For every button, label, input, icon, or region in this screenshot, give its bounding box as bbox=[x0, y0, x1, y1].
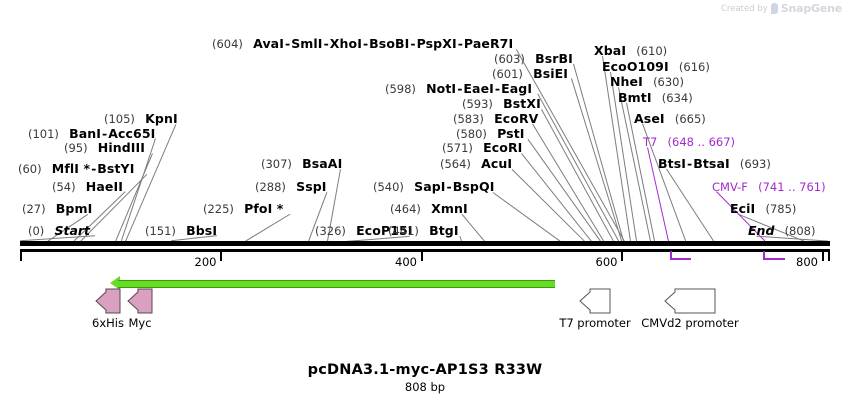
enzyme-separator: - bbox=[409, 36, 416, 51]
ecii-label: EciI (785) bbox=[730, 200, 796, 216]
site-position: (665) bbox=[675, 112, 706, 126]
page-subtitle: 808 bp bbox=[0, 380, 850, 394]
sequence-backbone bbox=[20, 241, 830, 246]
ecoo109i-label: EcoO109I (616) bbox=[602, 58, 710, 74]
ruler-baseline bbox=[20, 249, 830, 252]
watermark-created-by: Created by bbox=[721, 4, 768, 14]
leader-line bbox=[462, 214, 485, 242]
enzyme-separator: - bbox=[323, 36, 330, 51]
enzyme-name: AcuI bbox=[481, 156, 512, 171]
enzyme-name: BanI bbox=[69, 126, 101, 141]
enzyme-name: XhoI bbox=[330, 36, 362, 51]
asei-label: AseI (665) bbox=[634, 110, 706, 126]
bmti-label: BmtI (634) bbox=[618, 89, 693, 105]
bpmi-label: (27) BpmI bbox=[22, 200, 92, 216]
plasmid-map-canvas: Created by SnapGene (0) Start(27) BpmI(5… bbox=[0, 0, 850, 404]
myc-feature-arrow-icon bbox=[127, 288, 153, 314]
enzyme-name: NotI bbox=[426, 81, 456, 96]
site-position: (603) bbox=[494, 52, 525, 66]
noti-eaei-eagi-label: (598) NotI-EaeI-EagI bbox=[385, 80, 532, 96]
enzyme-name: BtgI bbox=[429, 223, 459, 238]
pfoi-label: (225) PfoI * bbox=[203, 200, 283, 216]
t7-primer: T7 (648 .. 667) bbox=[643, 133, 735, 149]
cmvf-primer: CMV-F (741 .. 761) bbox=[712, 178, 826, 194]
ruler-tick bbox=[621, 252, 623, 261]
bsrbi-label: (603) BsrBI bbox=[494, 50, 573, 66]
kpni-label: (105) KpnI bbox=[104, 110, 178, 126]
enzyme-name: BbsI bbox=[186, 223, 217, 238]
site-position: (598) bbox=[385, 82, 416, 96]
6xhis-feature-arrow-icon bbox=[95, 288, 121, 314]
ruler-tick bbox=[822, 252, 824, 261]
enzyme-name: XmnI bbox=[431, 201, 468, 216]
site-position: (441) bbox=[388, 224, 419, 238]
sspi-label: (288) SspI bbox=[255, 178, 327, 194]
enzyme-name: HindIII bbox=[98, 140, 145, 155]
avai-group-label: (604) AvaI-SmlI-XhoI-BsoBI-PspXI-PaeR7I bbox=[212, 35, 513, 51]
site-position: (95) bbox=[64, 141, 88, 155]
enzyme-name: EcoO109I bbox=[602, 59, 669, 74]
btgi-label: (441) BtgI bbox=[388, 222, 459, 238]
site-position: (27) bbox=[22, 202, 46, 216]
haeii-label: (54) HaeII bbox=[52, 178, 123, 194]
enzyme-name: BstXI bbox=[503, 96, 541, 111]
ruler-tick bbox=[220, 252, 222, 261]
leader-line bbox=[537, 94, 619, 241]
enzyme-name: EaeI bbox=[463, 81, 494, 96]
xmni-label: (464) XmnI bbox=[390, 200, 468, 216]
site-position: (464) bbox=[390, 202, 421, 216]
enzyme-name: BsiEI bbox=[533, 66, 568, 81]
enzyme-name: EcoRI bbox=[483, 140, 522, 155]
enzyme-separator: - bbox=[446, 179, 453, 194]
primer-bracket bbox=[670, 251, 691, 260]
bstxi-label: (593) BstXI bbox=[462, 95, 541, 111]
enzyme-separator: - bbox=[457, 36, 464, 51]
site-position: (610) bbox=[636, 44, 667, 58]
snapgene-logo-icon bbox=[771, 3, 778, 14]
leader-line bbox=[245, 214, 290, 242]
site-position: (693) bbox=[740, 157, 771, 171]
enzyme-name: BtsaI bbox=[693, 156, 730, 171]
ruler-tick-label: 600 bbox=[579, 255, 617, 269]
hindiii-label: (95) HindIII bbox=[64, 139, 145, 155]
enzyme-name: MflI * bbox=[52, 161, 90, 176]
site-position: (60) bbox=[18, 162, 42, 176]
site-position: (564) bbox=[440, 157, 471, 171]
ruler-end-cap bbox=[828, 252, 830, 261]
enzyme-name: EciI bbox=[730, 201, 755, 216]
nhei-label: NheI (630) bbox=[610, 73, 684, 89]
btsi-btsai-label: BtsI-BtsaI (693) bbox=[658, 155, 771, 171]
enzyme-name: BmtI bbox=[618, 90, 652, 105]
site-position: (580) bbox=[456, 127, 487, 141]
page-title: pcDNA3.1-myc-AP1S3 R33W bbox=[0, 362, 850, 378]
site-position: (604) bbox=[212, 37, 243, 51]
cmvd2-promoter-feature-label: CMVd2 promoter bbox=[620, 316, 760, 330]
bbsi-label: (151) BbsI bbox=[145, 222, 217, 238]
enzyme-name: BpmI bbox=[56, 201, 93, 216]
site-position: (307) bbox=[261, 157, 292, 171]
orf-arrow bbox=[118, 280, 555, 288]
bsaai-label: (307) BsaAI bbox=[261, 155, 342, 171]
myc-feature-label: Myc bbox=[70, 316, 210, 330]
primer-name: T7 bbox=[643, 135, 657, 149]
site-position: (225) bbox=[203, 202, 234, 216]
enzyme-name: AvaI bbox=[253, 36, 284, 51]
enzyme-name: Acc65I bbox=[108, 126, 155, 141]
enzyme-name: PfoI * bbox=[244, 201, 283, 216]
site-position: (288) bbox=[255, 180, 286, 194]
sapi-bspqi-label: (540) SapI-BspQI bbox=[373, 178, 494, 194]
psti-label: (580) PstI bbox=[456, 125, 525, 141]
enzyme-name: SmlI bbox=[291, 36, 322, 51]
mfli-bstyi-label: (60) MflI *-BstYI bbox=[18, 160, 134, 176]
ecori-label: (571) EcoRI bbox=[442, 139, 522, 155]
t7-promoter-feature-arrow-icon bbox=[579, 288, 611, 314]
enzyme-name: EcoRV bbox=[494, 111, 538, 126]
enzyme-name: SapI bbox=[414, 179, 445, 194]
site-position: (105) bbox=[104, 112, 135, 126]
end-marker: End (808) bbox=[748, 222, 816, 238]
site-position: (808) bbox=[785, 224, 816, 238]
site-position: (0) bbox=[28, 224, 44, 238]
enzyme-name: BsoBI bbox=[369, 36, 409, 51]
site-position: (583) bbox=[453, 112, 484, 126]
site-position: (593) bbox=[462, 97, 493, 111]
watermark-brand: SnapGene bbox=[781, 2, 842, 15]
primer-range: (648 .. 667) bbox=[668, 135, 736, 149]
bani-acc65i-label: (101) BanI-Acc65I bbox=[28, 125, 155, 141]
ruler-tick-label: 800 bbox=[780, 255, 818, 269]
enzyme-name: BsaAI bbox=[302, 156, 342, 171]
site-position: (540) bbox=[373, 180, 404, 194]
site-position: (616) bbox=[679, 60, 710, 74]
site-position: (101) bbox=[28, 127, 59, 141]
enzyme-name: KpnI bbox=[145, 111, 178, 126]
enzyme-name: Start bbox=[54, 223, 90, 238]
enzyme-name: SspI bbox=[296, 179, 326, 194]
enzyme-name: NheI bbox=[610, 74, 643, 89]
site-position: (54) bbox=[52, 180, 76, 194]
ecorv-label: (583) EcoRV bbox=[453, 110, 538, 126]
primer-bracket bbox=[763, 251, 785, 260]
enzyme-name: HaeII bbox=[86, 179, 123, 194]
leader-line bbox=[493, 192, 561, 242]
ruler-start-cap bbox=[20, 252, 22, 261]
start-marker: (0) Start bbox=[28, 222, 90, 238]
bsiei-label: (601) BsiEI bbox=[492, 65, 568, 81]
enzyme-name: BsrBI bbox=[535, 51, 573, 66]
primer-range: (741 .. 761) bbox=[758, 180, 826, 194]
snapgene-watermark: Created by SnapGene bbox=[721, 2, 842, 15]
enzyme-name: AseI bbox=[634, 111, 665, 126]
ruler-tick-label: 200 bbox=[178, 255, 216, 269]
site-position: (151) bbox=[145, 224, 176, 238]
enzyme-name: End bbox=[748, 223, 774, 238]
site-position: (634) bbox=[662, 91, 693, 105]
enzyme-name: XbaI bbox=[594, 43, 626, 58]
enzyme-name: PstI bbox=[497, 126, 524, 141]
site-position: (785) bbox=[765, 202, 796, 216]
enzyme-name: BstYI bbox=[97, 161, 134, 176]
ruler-tick bbox=[421, 252, 423, 261]
site-position: (326) bbox=[315, 224, 346, 238]
acui-label: (564) AcuI bbox=[440, 155, 512, 171]
xbai-label: XbaI (610) bbox=[594, 42, 667, 58]
site-position: (601) bbox=[492, 67, 523, 81]
enzyme-name: BspQI bbox=[453, 179, 495, 194]
primer-name: CMV-F bbox=[712, 180, 748, 194]
enzyme-name: PspXI bbox=[417, 36, 457, 51]
enzyme-name: PaeR7I bbox=[464, 36, 513, 51]
enzyme-name: BtsI bbox=[658, 156, 686, 171]
ruler-tick-label: 400 bbox=[379, 255, 417, 269]
enzyme-name: EagI bbox=[501, 81, 532, 96]
cmvd2-promoter-feature-arrow-icon bbox=[664, 288, 716, 314]
site-position: (571) bbox=[442, 141, 473, 155]
